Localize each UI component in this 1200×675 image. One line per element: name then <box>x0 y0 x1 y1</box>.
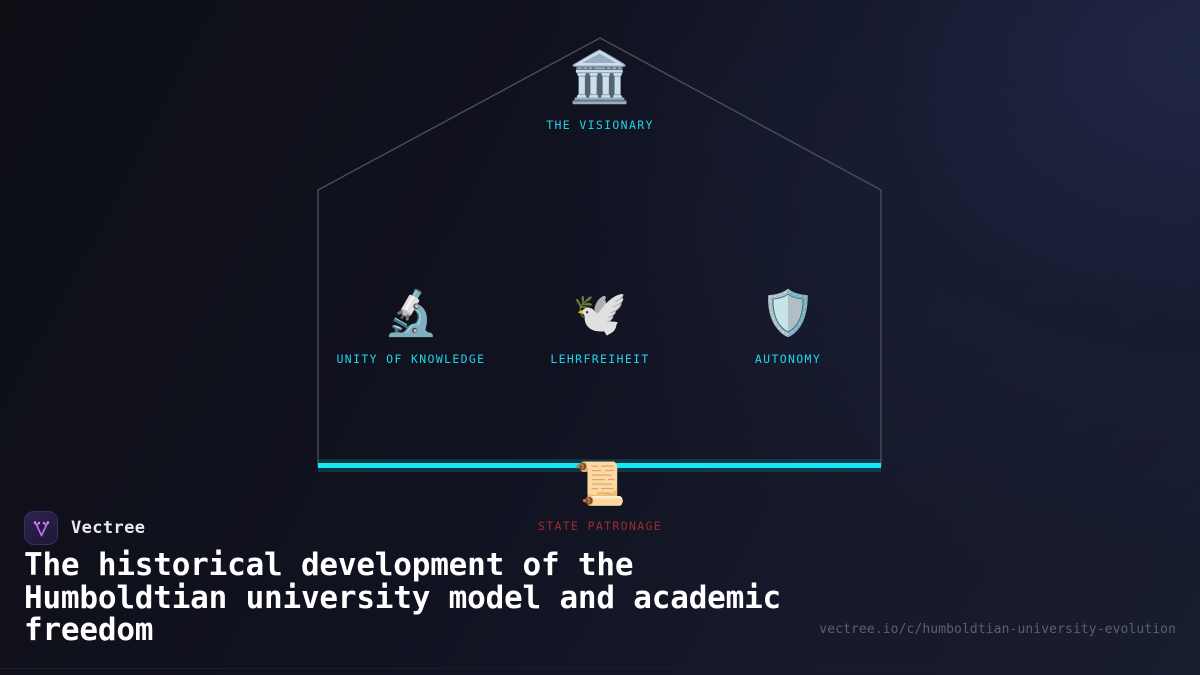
temple-pillar-autonomy: 🛡️ AUTONOMY <box>755 292 821 366</box>
temple-pillar-lehrfreiheit: 🕊️ LEHRFREIHEIT <box>550 292 649 366</box>
microscope-icon: 🔬 <box>384 292 439 336</box>
dove-icon: 🕊️ <box>573 292 628 336</box>
permalink-url: vectree.io/c/humboldtian-university-evol… <box>819 622 1176 637</box>
temple-apex-label: THE VISIONARY <box>546 118 654 132</box>
scroll-icon: 📜 <box>574 463 626 505</box>
brand-lockup: Vectree <box>24 511 145 545</box>
footer-divider <box>0 668 1200 669</box>
page-title: The historical development of the Humbol… <box>24 549 784 647</box>
vectree-tree-logo-icon <box>24 511 58 545</box>
temple-apex-node: 🏛️ THE VISIONARY <box>546 52 654 132</box>
temple-pillar-label: LEHRFREIHEIT <box>550 352 649 366</box>
temple-pillar-label: AUTONOMY <box>755 352 821 366</box>
classical-building-icon: 🏛️ <box>569 52 631 102</box>
shield-icon: 🛡️ <box>761 292 816 336</box>
temple-pillar-unity-of-knowledge: 🔬 UNITY OF KNOWLEDGE <box>337 292 486 366</box>
brand-name: Vectree <box>71 518 145 538</box>
share-card: 🏛️ THE VISIONARY 🔬 UNITY OF KNOWLEDGE 🕊️… <box>0 0 1200 675</box>
temple-foundation-node: 📜 STATE PATRONAGE <box>538 463 662 533</box>
temple-foundation-label: STATE PATRONAGE <box>538 519 662 533</box>
temple-pillar-label: UNITY OF KNOWLEDGE <box>337 352 486 366</box>
